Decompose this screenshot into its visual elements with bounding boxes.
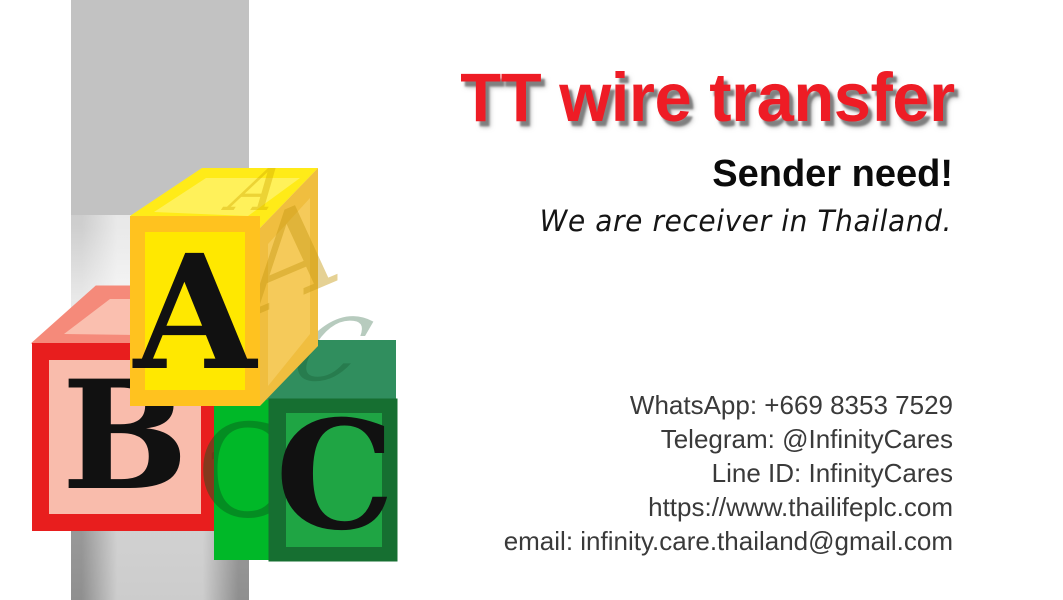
page-subtitle: Sender need! xyxy=(712,152,953,196)
contact-line-telegram: Telegram: @InfinityCares xyxy=(504,422,953,456)
contact-block: WhatsApp: +669 8353 7529 Telegram: @Infi… xyxy=(504,388,953,558)
contact-line-email[interactable]: email: infinity.care.thailand@gmail.com xyxy=(504,524,953,558)
page-tagline: We are receiver in Thailand. xyxy=(540,203,952,240)
contact-line-lineid: Line ID: InfinityCares xyxy=(504,456,953,490)
contact-line-website[interactable]: https://www.thailifeplc.com xyxy=(504,490,953,524)
promo-card: B B C C xyxy=(0,0,1063,600)
page-title: TT wire transfer xyxy=(461,62,955,134)
contact-line-whatsapp: WhatsApp: +669 8353 7529 xyxy=(504,388,953,422)
block-a-letter: A xyxy=(132,221,259,406)
text-column: TT wire transfer Sender need! We are rec… xyxy=(270,0,955,600)
